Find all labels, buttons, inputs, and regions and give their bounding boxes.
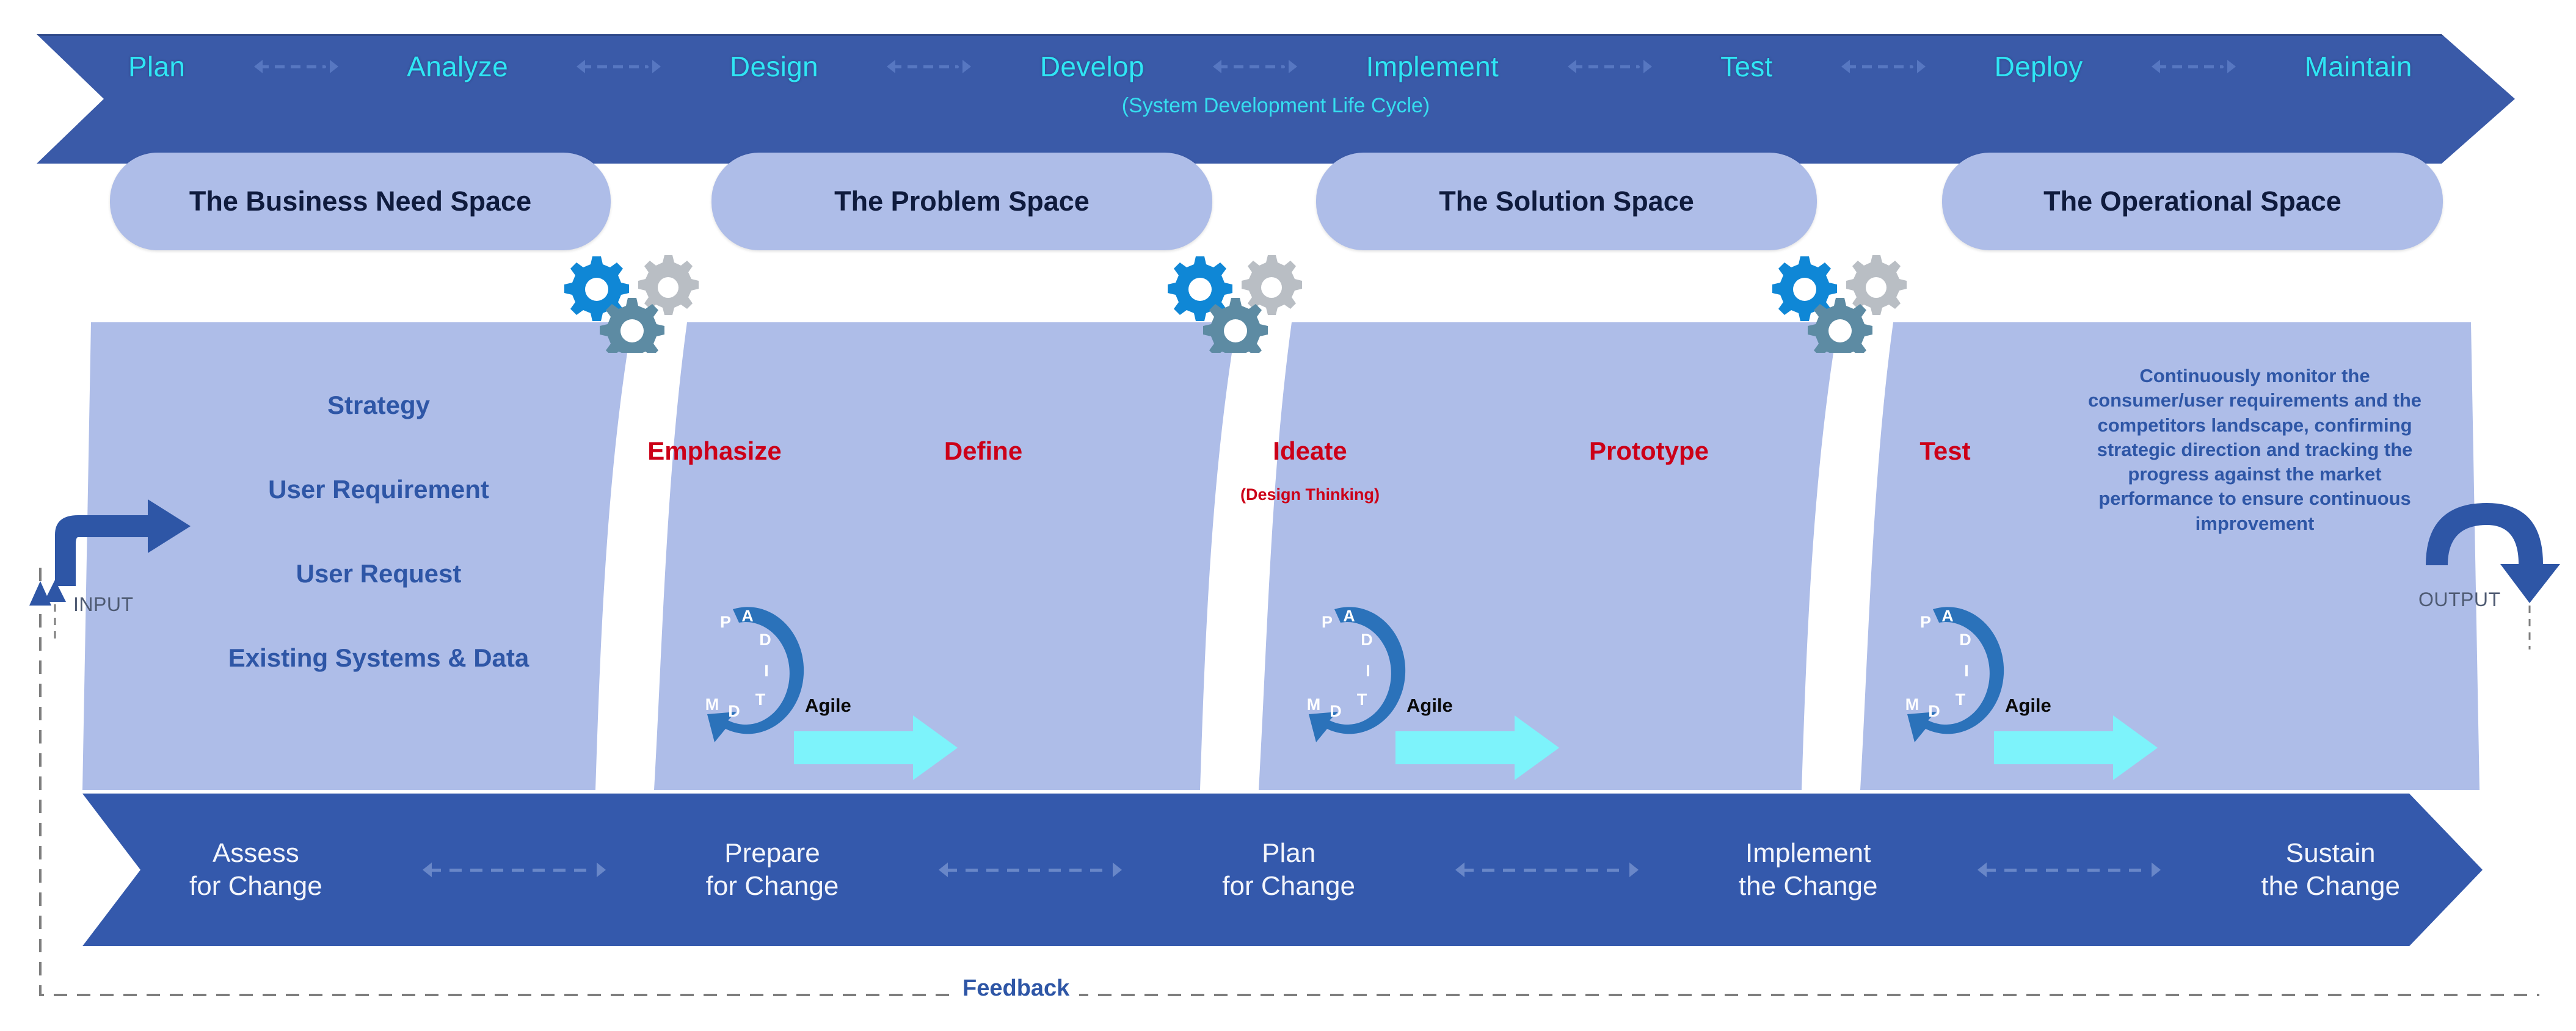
feedback-label: Feedback	[953, 975, 1079, 1002]
dt-stage-emphasize: Emphasize	[611, 436, 818, 466]
diagram-canvas: Plan Analyze Design Develop Implement Te…	[0, 0, 2576, 1031]
space-pill-problem: The Problem Space	[711, 153, 1212, 250]
svg-text:M: M	[1905, 695, 1919, 714]
padit-ring-3: PA DI TD M	[1896, 598, 2043, 757]
dt-stage-prototype: Prototype	[1515, 436, 1783, 466]
svg-text:M: M	[1307, 695, 1321, 714]
svg-text:I: I	[1964, 662, 1969, 680]
space-pill-operational: The Operational Space	[1942, 153, 2443, 250]
sdlc-step-analyze: Analyze	[407, 50, 508, 83]
svg-text:A: A	[1941, 607, 1954, 625]
padit-ring-1: PA DI TD M	[696, 598, 843, 757]
output-group: OUTPUT	[2407, 492, 2576, 651]
sdlc-step-test: Test	[1720, 50, 1773, 83]
sdlc-step-implement: Implement	[1366, 50, 1499, 83]
svg-text:D: D	[1928, 702, 1940, 720]
svg-text:I: I	[764, 662, 769, 680]
business-need-item-user-requirement: User Requirement	[183, 475, 574, 504]
gear-cluster-2	[1153, 243, 1336, 353]
svg-text:P: P	[720, 613, 731, 631]
space-pill-solution: The Solution Space	[1316, 153, 1817, 250]
svg-text:A: A	[741, 607, 754, 625]
input-group: INPUT	[15, 488, 216, 641]
output-label: OUTPUT	[2418, 588, 2501, 611]
dt-stage-test: Test	[1866, 436, 2025, 466]
sdlc-step-develop: Develop	[1040, 50, 1144, 83]
gear-cluster-3	[1758, 243, 1941, 353]
svg-text:T: T	[1956, 690, 1966, 709]
dashed-arrow-icon	[887, 54, 971, 79]
agile-label-3: Agile	[2005, 695, 2051, 717]
sdlc-step-maintain: Maintain	[2305, 50, 2412, 83]
svg-text:P: P	[1322, 613, 1333, 631]
svg-text:D: D	[759, 631, 771, 649]
dashed-arrow-icon	[2152, 54, 2236, 79]
dashed-arrow-icon	[1568, 54, 1652, 79]
padit-ring-2: PA DI TD M	[1298, 598, 1444, 757]
curved-arrow-loop-icon	[2407, 492, 2576, 651]
agile-label-2: Agile	[1406, 695, 1453, 717]
svg-text:A: A	[1343, 607, 1355, 625]
space-pill-business-need: The Business Need Space	[110, 153, 611, 250]
sdlc-step-deploy: Deploy	[1995, 50, 2083, 83]
input-label: INPUT	[73, 593, 134, 616]
svg-text:M: M	[705, 695, 719, 714]
operational-space-description: Continuously monitor the consumer/user r…	[2072, 364, 2438, 536]
gear-cluster-1	[550, 243, 733, 353]
dashed-arrow-icon	[1841, 54, 1926, 79]
dt-stage-define: Define	[879, 436, 1087, 466]
svg-text:T: T	[1357, 690, 1367, 709]
dashed-arrow-icon	[577, 54, 661, 79]
svg-text:D: D	[1330, 702, 1342, 720]
svg-text:T: T	[755, 690, 766, 709]
business-need-item-user-request: User Request	[183, 559, 574, 588]
sdlc-subtitle: (System Development Life Cycle)	[37, 94, 2515, 118]
sdlc-banner: Plan Analyze Design Develop Implement Te…	[37, 34, 2515, 164]
business-need-item-existing-systems: Existing Systems & Data	[140, 643, 617, 673]
feedback-loop	[24, 568, 2553, 1019]
svg-text:D: D	[728, 702, 740, 720]
curved-arrow-right-icon	[15, 488, 216, 641]
gear-icon	[1242, 255, 1302, 315]
agile-label-1: Agile	[805, 695, 851, 717]
gear-icon	[1846, 255, 1907, 315]
svg-text:D: D	[1361, 631, 1373, 649]
svg-text:P: P	[1920, 613, 1931, 631]
svg-text:D: D	[1959, 631, 1971, 649]
dashed-arrow-icon	[254, 54, 338, 79]
dt-stage-ideate: Ideate	[1206, 436, 1414, 466]
svg-text:I: I	[1366, 662, 1370, 680]
dt-subtitle: (Design Thinking)	[1176, 485, 1444, 504]
sdlc-step-plan: Plan	[128, 50, 185, 83]
dashed-arrow-icon	[1213, 54, 1297, 79]
gear-icon	[638, 255, 699, 315]
sdlc-step-row: Plan Analyze Design Develop Implement Te…	[128, 43, 2412, 90]
business-need-item-strategy: Strategy	[183, 391, 574, 420]
sdlc-step-design: Design	[730, 50, 818, 83]
